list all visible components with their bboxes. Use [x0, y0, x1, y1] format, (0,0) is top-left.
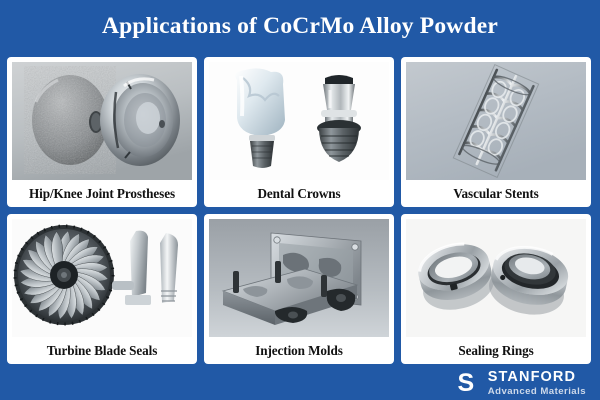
card-label: Hip/Knee Joint Prostheses: [12, 180, 192, 207]
title-bar: Applications of CoCrMo Alloy Powder: [0, 0, 600, 52]
card-label: Turbine Blade Seals: [12, 337, 192, 364]
sealing-rings-image: [406, 219, 586, 337]
page-title: Applications of CoCrMo Alloy Powder: [102, 13, 498, 40]
application-card[interactable]: Turbine Blade Seals: [7, 214, 197, 364]
logo-brand-name: STANFORD: [488, 370, 586, 385]
application-card[interactable]: Vascular Stents: [401, 57, 591, 207]
poster-root: Applications of CoCrMo Alloy Powder: [0, 0, 600, 400]
logo-tagline: Advanced Materials: [488, 386, 586, 397]
stanford-advanced-materials-logo[interactable]: S STANFORD Advanced Materials: [453, 370, 586, 397]
application-card[interactable]: Hip/Knee Joint Prostheses: [7, 57, 197, 207]
application-card[interactable]: Sealing Rings: [401, 214, 591, 364]
injection-molds-image: [209, 219, 389, 337]
application-card[interactable]: Injection Molds: [204, 214, 394, 364]
vascular-stents-image: [406, 62, 586, 180]
card-label: Sealing Rings: [406, 337, 586, 364]
card-label: Vascular Stents: [406, 180, 586, 207]
logo-text: STANFORD Advanced Materials: [488, 370, 586, 397]
application-card-grid: Hip/Knee Joint Prostheses: [7, 57, 593, 364]
logo-s-icon: S: [453, 370, 479, 397]
application-card[interactable]: Dental Crowns: [204, 57, 394, 207]
turbine-blade-seals-image: [12, 219, 192, 337]
card-label: Injection Molds: [209, 337, 389, 364]
dental-crowns-image: [209, 62, 389, 180]
card-label: Dental Crowns: [209, 180, 389, 207]
hip-knee-joint-prostheses-image: [12, 62, 192, 180]
footer: S STANFORD Advanced Materials: [0, 367, 600, 400]
